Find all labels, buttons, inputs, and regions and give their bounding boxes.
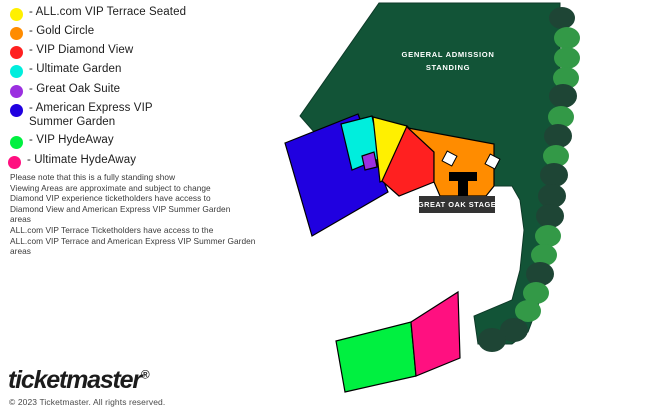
great-oak-stage-label[interactable]: GREAT OAK STAGE [418,196,496,213]
tree-icon [540,163,568,187]
stage-label-text: GREAT OAK STAGE [418,200,496,209]
tree-icon [549,84,577,108]
venue-map[interactable]: GENERAL ADMISSION STANDING GREAT OAK STA… [0,0,670,410]
tree-icon [535,225,561,247]
tree-icon [478,328,506,352]
tree-icon [526,262,554,286]
zone-great-oak-suite[interactable] [362,152,377,170]
tree-icon [554,27,580,49]
tree-icon [554,47,580,69]
tree-icon [549,7,575,29]
tree-icon [544,124,572,148]
tree-icon [536,204,564,228]
general-admission-label-line2: STANDING [426,63,470,72]
tree-icon [515,300,541,322]
zone-ultimate-hydeaway[interactable] [411,292,460,376]
zone-vip-hydeaway[interactable] [336,322,416,392]
seating-map-page: - ALL.com VIP Terrace Seated - Gold Circ… [0,0,670,410]
general-admission-label: GENERAL ADMISSION [402,50,495,59]
